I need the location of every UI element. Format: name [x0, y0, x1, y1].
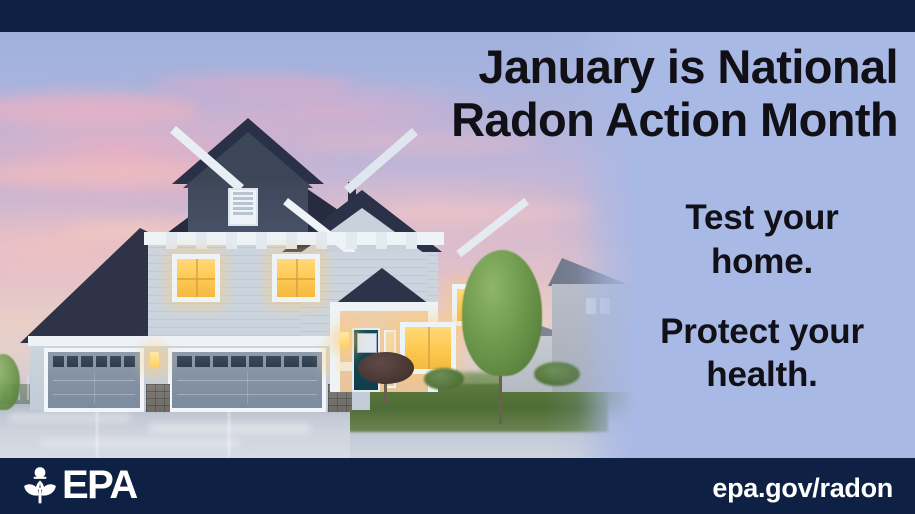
upstairs-window-right	[272, 254, 320, 302]
stone-column	[146, 384, 170, 412]
driveway-reflection	[150, 424, 310, 432]
cta-line-3: Protect your	[612, 310, 912, 354]
house-number-plaque	[336, 362, 352, 371]
epa-wordmark: EPA	[62, 466, 137, 504]
garage-door-double	[168, 348, 326, 412]
driveway-reflection	[10, 414, 130, 421]
call-to-action-copy: Test your home. Protect your health.	[612, 196, 912, 397]
upstairs-window-left	[172, 254, 220, 302]
ornamental-shrub	[358, 352, 414, 384]
cta-line-2: home.	[612, 240, 912, 284]
eave-bracket	[226, 232, 237, 249]
page-title: January is National Radon Action Month	[370, 40, 898, 146]
headline-line-1: January is National	[478, 40, 898, 93]
epa-radon-url[interactable]: epa.gov/radon	[712, 473, 893, 504]
porch-sconce-light	[340, 332, 349, 348]
bush	[534, 362, 580, 386]
eave-bracket	[196, 232, 207, 249]
cta-block-protect-health: Protect your health.	[612, 310, 912, 398]
eave-bracket	[406, 232, 417, 249]
bush	[424, 368, 464, 390]
garage-fascia	[28, 336, 376, 346]
eave-bracket	[166, 232, 177, 249]
gable-vent-icon	[228, 188, 258, 226]
epa-seal-icon	[22, 466, 58, 504]
eave-bracket	[286, 232, 297, 249]
radon-awareness-banner: January is National Radon Action Month T…	[0, 0, 915, 514]
porch-column	[330, 308, 340, 392]
eave-bracket	[376, 232, 387, 249]
headline-line-2: Radon Action Month	[370, 93, 898, 146]
cta-line-1: Test your	[612, 196, 912, 240]
eave-bracket	[346, 232, 357, 249]
neighbor-window	[600, 298, 610, 314]
garage-door-single	[44, 348, 144, 412]
driveway-seam	[96, 404, 98, 458]
top-navy-bar	[0, 0, 915, 32]
neighbor-window	[586, 298, 596, 314]
epa-logo[interactable]: EPA	[22, 466, 137, 504]
garage-sconce-light	[150, 352, 159, 368]
tree-canopy	[462, 250, 542, 376]
cta-line-4: health.	[612, 353, 912, 397]
footer-bar: EPA epa.gov/radon	[0, 458, 915, 514]
eave-bracket	[256, 232, 267, 249]
eave-bracket	[316, 232, 327, 249]
cta-block-test-home: Test your home.	[612, 196, 912, 284]
cloud	[150, 74, 350, 96]
driveway-reflection	[40, 440, 240, 446]
porch-beam	[330, 302, 438, 311]
